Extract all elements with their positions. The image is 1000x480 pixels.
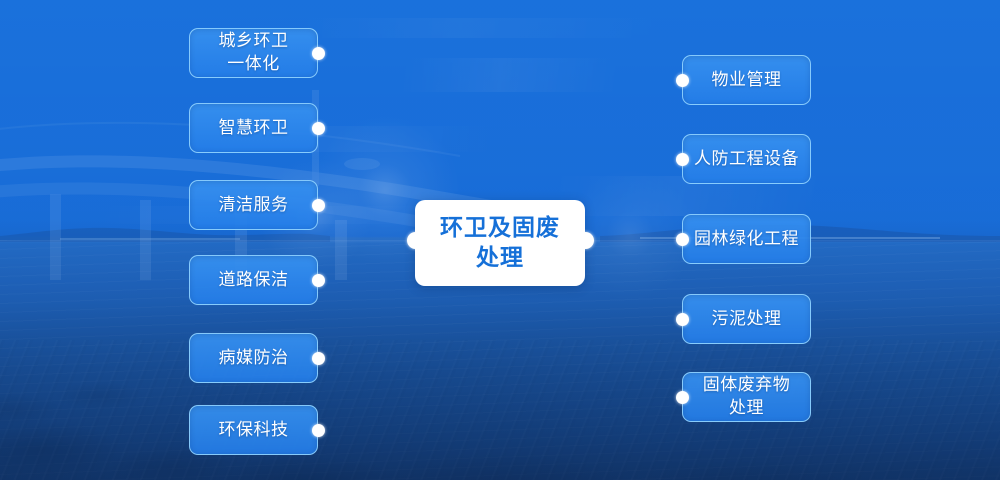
hub-connector-left xyxy=(407,232,424,249)
node-left-5[interactable]: 病媒防治 xyxy=(189,333,318,383)
background-rock-texture xyxy=(0,340,1000,480)
connector-dot-right-2 xyxy=(676,153,689,166)
center-node[interactable]: 环卫及固废 处理 xyxy=(415,200,585,286)
connector-dot-left-5 xyxy=(312,352,325,365)
node-left-6[interactable]: 环保科技 xyxy=(189,405,318,455)
node-right-1[interactable]: 物业管理 xyxy=(682,55,811,105)
connector-dot-left-1 xyxy=(312,47,325,60)
hub-connector-right xyxy=(577,232,594,249)
node-left-2[interactable]: 智慧环卫 xyxy=(189,103,318,153)
connector-dot-left-3 xyxy=(312,199,325,212)
node-left-3[interactable]: 清洁服务 xyxy=(189,180,318,230)
connector-dot-right-1 xyxy=(676,74,689,87)
mindmap-canvas: 城乡环卫 一体化智慧环卫清洁服务道路保洁病媒防治环保科技物业管理人防工程设备园林… xyxy=(0,0,1000,480)
node-left-1[interactable]: 城乡环卫 一体化 xyxy=(189,28,318,78)
node-left-4[interactable]: 道路保洁 xyxy=(189,255,318,305)
connector-dot-right-4 xyxy=(676,313,689,326)
node-right-2[interactable]: 人防工程设备 xyxy=(682,134,811,184)
node-right-3[interactable]: 园林绿化工程 xyxy=(682,214,811,264)
node-right-5[interactable]: 固体废弃物 处理 xyxy=(682,372,811,422)
connector-dot-left-4 xyxy=(312,274,325,287)
connector-dot-right-3 xyxy=(676,233,689,246)
connector-dot-left-6 xyxy=(312,424,325,437)
connector-dot-left-2 xyxy=(312,122,325,135)
node-right-4[interactable]: 污泥处理 xyxy=(682,294,811,344)
connector-dot-right-5 xyxy=(676,391,689,404)
